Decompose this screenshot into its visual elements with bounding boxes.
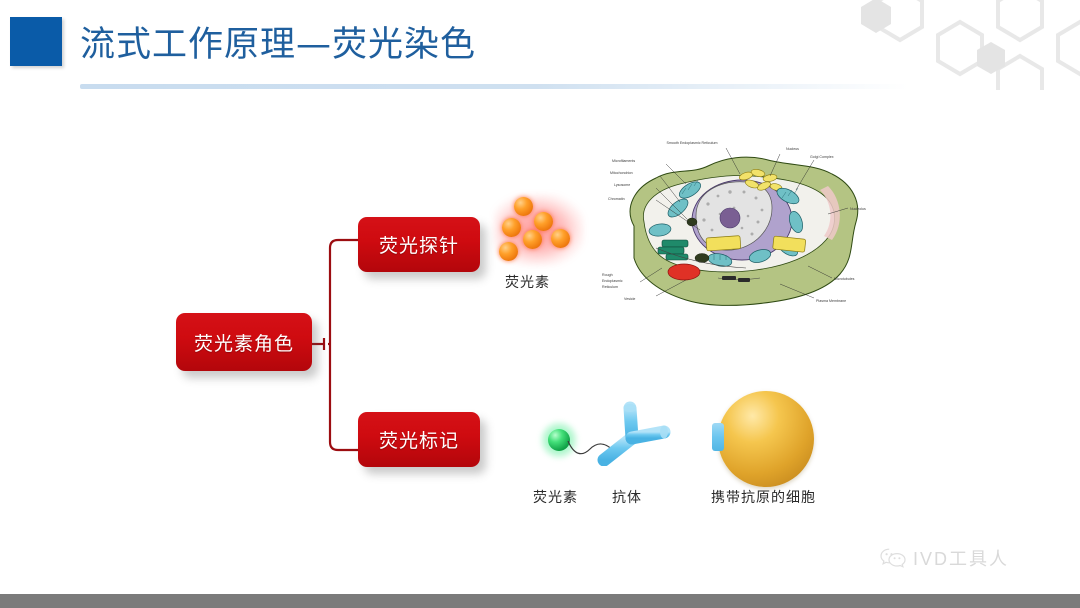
cell-label-nucleolus: Nucleolus [850, 207, 866, 211]
cell-label-rough-er-2: Endoplasmic [602, 279, 623, 283]
fluorescein-cluster-illustration [492, 192, 588, 274]
watermark: IVD工具人 [880, 545, 1009, 571]
cell-label-rough-er-3: Reticulum [602, 285, 618, 289]
label-antigen-cell: 携带抗原的细胞 [711, 487, 816, 507]
cell-label-vesicle: Vesicle [624, 297, 635, 301]
cell-label-mitochondrion: Mitochondrion [610, 171, 633, 175]
antigen-bearing-cell-illustration [718, 391, 814, 487]
title-accent-square [10, 17, 62, 66]
label-antibody: 抗体 [612, 487, 642, 507]
cell-label-microfilaments: Microfilaments [612, 159, 635, 163]
cell-label-lysosome: Lysosome [614, 183, 630, 187]
page-title: 流式工作原理—荧光染色 [80, 16, 476, 67]
slide-canvas: 流式工作原理—荧光染色 荧光素角色 荧光探针 荧光标记 荧光素 [0, 0, 1080, 608]
cell-label-smooth-er: Smooth Endoplasmic Reticulum [667, 141, 718, 145]
node-fluorescent-label-text: 荧光标记 [379, 426, 459, 453]
fluorescein-particle [523, 230, 542, 249]
watermark-text: IVD工具人 [913, 545, 1009, 571]
hexagon-pattern-decoration [860, 0, 1080, 90]
cell-label-chromatin: Chromatin [608, 197, 625, 201]
label-fluorescein-top: 荧光素 [505, 272, 550, 292]
fluorescein-particle [551, 229, 570, 248]
node-fluorescein-role[interactable]: 荧光素角色 [176, 313, 312, 371]
cell-label-rough-er-1: Rough [602, 273, 613, 277]
title-divider [80, 84, 908, 89]
fluorescein-particle [502, 218, 521, 237]
node-fluorescent-label[interactable]: 荧光标记 [358, 412, 480, 467]
cell-label-plasma-membrane: Plasma Membrane [816, 299, 846, 303]
cell-label-golgi: Golgi Complex [810, 155, 834, 159]
node-fluorescent-probe[interactable]: 荧光探针 [358, 217, 480, 272]
label-fluorescein-bottom: 荧光素 [533, 487, 578, 507]
fluorescein-particle [499, 242, 518, 261]
wechat-icon [880, 547, 906, 569]
antibody-illustration [596, 398, 672, 466]
node-fluorescent-probe-label: 荧光探针 [379, 231, 459, 258]
node-fluorescein-role-label: 荧光素角色 [194, 329, 294, 356]
cell-label-nucleus: Nucleus [786, 147, 799, 151]
eukaryotic-cell-diagram: Smooth Endoplasmic Reticulum Nucleus Gol… [600, 130, 882, 330]
fluorescein-particle [514, 197, 533, 216]
antigen-marker [712, 423, 724, 451]
cell-label-microtubules: Microtubules [834, 277, 855, 281]
fluorescein-particle [534, 212, 553, 231]
bottom-bar [0, 594, 1080, 608]
